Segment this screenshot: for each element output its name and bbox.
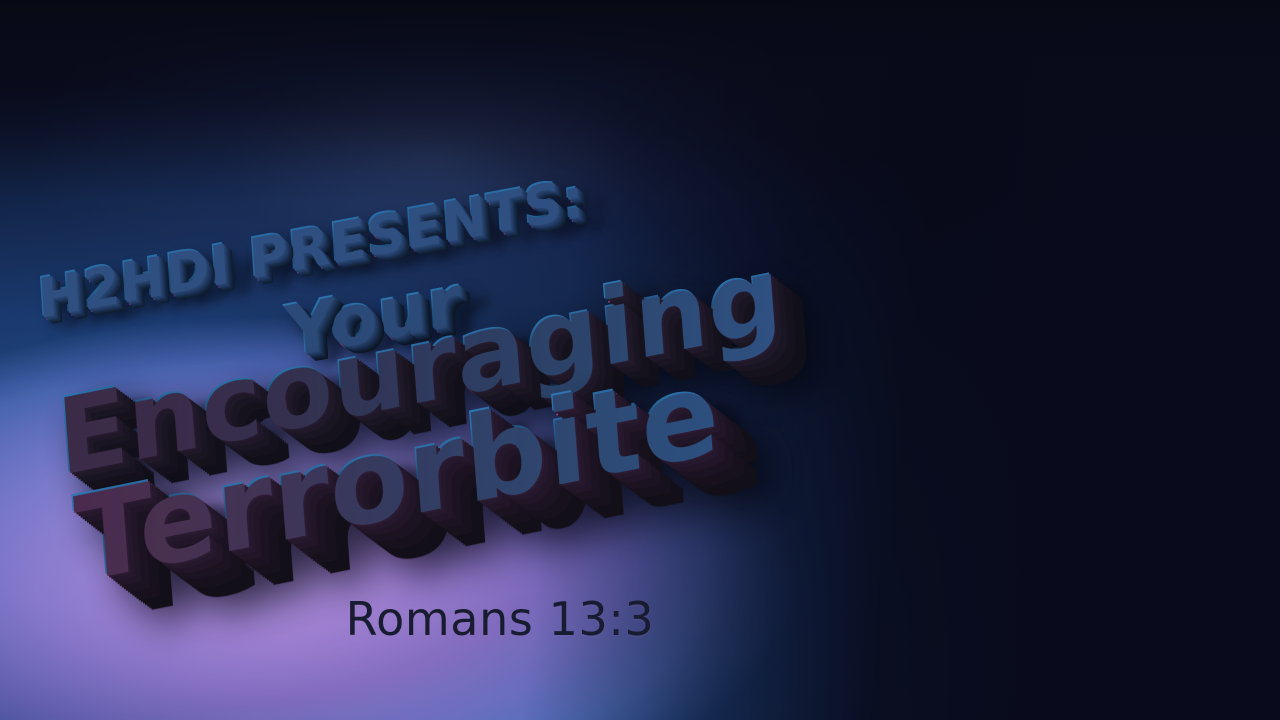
scripture-reference: Romans 13:3 [0,592,1000,646]
title-slide: H2HDI PRESENTS: H2HDI PRESENTS: H2HDI PR… [0,0,1280,720]
